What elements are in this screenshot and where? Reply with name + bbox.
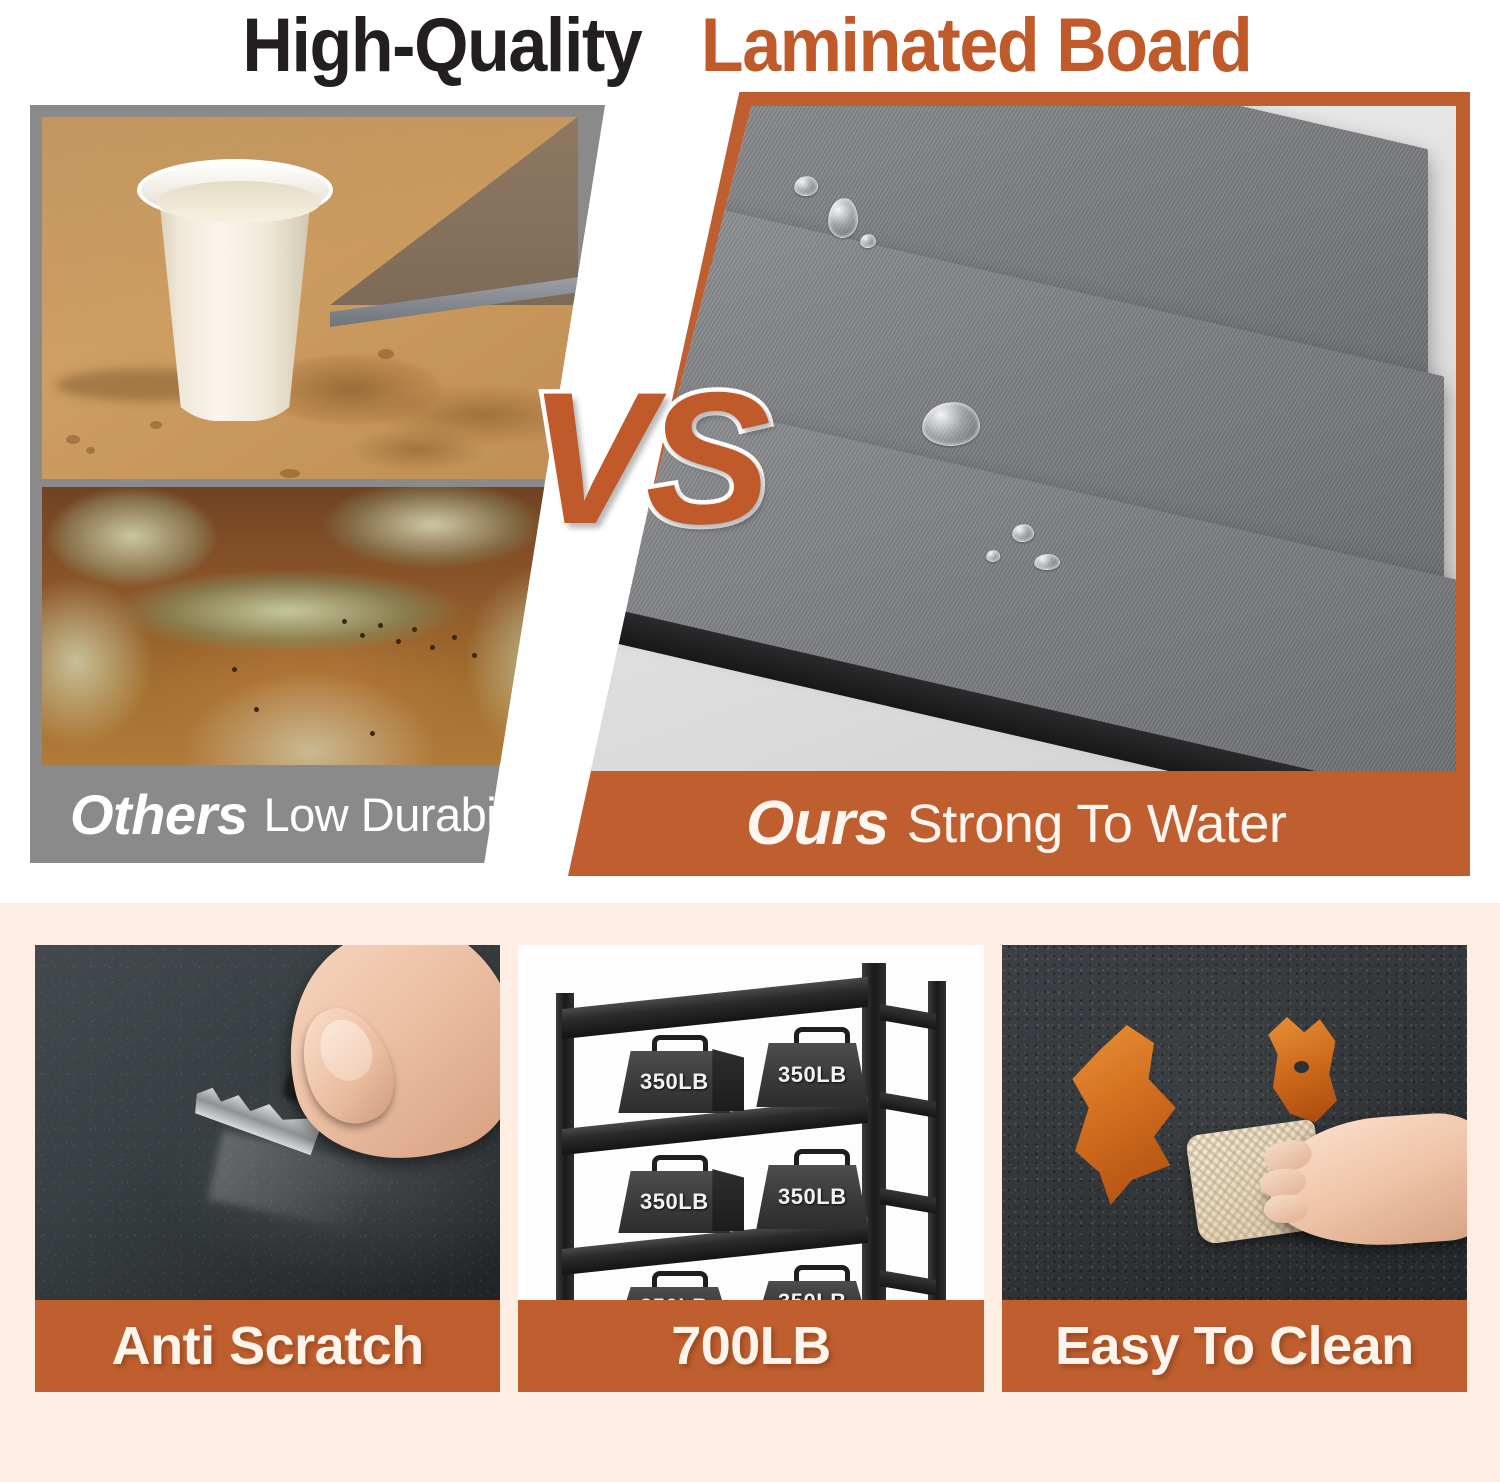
feature-caption-bar: Easy To Clean bbox=[1002, 1300, 1467, 1392]
weight-block-side bbox=[712, 1169, 744, 1231]
others-photo-mold-damage bbox=[42, 487, 578, 765]
headline-part-2: Laminated Board bbox=[701, 8, 1251, 84]
others-label-strong: Others bbox=[70, 782, 248, 847]
ours-label-bar: Ours Strong To Water bbox=[568, 771, 1470, 876]
spill-droplet bbox=[86, 447, 95, 454]
water-droplet bbox=[1034, 554, 1060, 570]
shelving-rack-photo: 350LB 350LB 350LB 350LB bbox=[518, 945, 983, 1300]
feature-caption-bar: Anti Scratch bbox=[35, 1300, 500, 1392]
mold-spore bbox=[412, 627, 417, 632]
feature-grid: Anti Scratch bbox=[35, 945, 1467, 1392]
weight-label: 350LB bbox=[640, 1069, 709, 1095]
features-section: Anti Scratch bbox=[0, 903, 1500, 1482]
weight-block-side bbox=[712, 1049, 744, 1111]
ours-label-light: Strong To Water bbox=[907, 793, 1287, 855]
headline-part-1: High-Quality bbox=[242, 8, 641, 84]
weight-label: 350LB bbox=[778, 1289, 847, 1300]
easy-clean-photo bbox=[1002, 945, 1467, 1300]
water-droplet bbox=[1012, 524, 1034, 542]
feature-card-anti-scratch: Anti Scratch bbox=[35, 945, 500, 1392]
water-droplet bbox=[794, 176, 818, 196]
feature-caption-text: Anti Scratch bbox=[112, 1315, 424, 1377]
spill-droplet bbox=[150, 421, 162, 429]
board-scene-background bbox=[582, 106, 1456, 771]
mold-growth-texture bbox=[42, 487, 578, 765]
weight-label: 350LB bbox=[640, 1189, 709, 1215]
others-label-bar: Others Low Durability bbox=[30, 765, 590, 863]
others-photo-coffee-spill bbox=[42, 117, 578, 479]
water-droplet bbox=[860, 234, 876, 248]
weight-block: 350LB bbox=[618, 1287, 730, 1300]
others-label-light: Low Durability bbox=[264, 787, 552, 842]
feature-card-capacity: 350LB 350LB 350LB 350LB bbox=[518, 945, 983, 1392]
mold-spore bbox=[370, 731, 375, 736]
feature-caption-text: Easy To Clean bbox=[1055, 1315, 1414, 1377]
cup-rim bbox=[137, 159, 333, 221]
feature-caption-text: 700LB bbox=[671, 1315, 831, 1377]
weight-label: 350LB bbox=[778, 1184, 847, 1210]
ours-photo-laminated-boards bbox=[582, 106, 1456, 771]
mold-spore bbox=[342, 619, 347, 624]
mold-spore bbox=[360, 633, 365, 638]
water-droplet bbox=[986, 550, 1000, 562]
cup-interior bbox=[157, 181, 321, 223]
page-headline: High-Quality Laminated Board bbox=[0, 0, 1500, 92]
weight-handle bbox=[794, 1027, 850, 1045]
paper-coffee-cup bbox=[137, 153, 333, 421]
others-panel: Others Low Durability bbox=[30, 105, 605, 863]
weight-handle bbox=[652, 1271, 708, 1289]
feature-card-easy-clean: Easy To Clean bbox=[1002, 945, 1467, 1392]
weight-block: 350LB bbox=[756, 1281, 868, 1300]
feature-caption-bar: 700LB bbox=[518, 1300, 983, 1392]
mold-spore bbox=[232, 667, 237, 672]
mold-spore bbox=[430, 645, 435, 650]
weight-handle bbox=[794, 1149, 850, 1167]
mold-spore bbox=[452, 635, 457, 640]
weight-handle bbox=[652, 1035, 708, 1053]
anti-scratch-photo bbox=[35, 945, 500, 1300]
mold-spore bbox=[254, 707, 259, 712]
water-droplet bbox=[828, 198, 858, 238]
ours-panel: Ours Strong To Water bbox=[568, 92, 1470, 876]
weight-handle bbox=[652, 1155, 708, 1173]
ours-label-strong: Ours bbox=[746, 788, 889, 859]
weight-handle bbox=[794, 1265, 850, 1283]
weight-label: 350LB bbox=[778, 1062, 847, 1088]
weight-label: 350LB bbox=[640, 1294, 709, 1300]
mold-spore bbox=[396, 639, 401, 644]
mold-spore bbox=[378, 623, 383, 628]
spill-bubble-hole bbox=[1294, 1061, 1309, 1073]
comparison-section: Others Low Durability bbox=[0, 92, 1500, 903]
weight-block: 350LB bbox=[756, 1165, 868, 1229]
spill-droplet bbox=[378, 349, 394, 359]
mold-spore bbox=[472, 653, 477, 658]
spill-droplet bbox=[280, 469, 300, 478]
spill-droplet bbox=[66, 435, 80, 444]
weight-block: 350LB bbox=[756, 1043, 868, 1107]
water-droplet bbox=[922, 402, 980, 446]
